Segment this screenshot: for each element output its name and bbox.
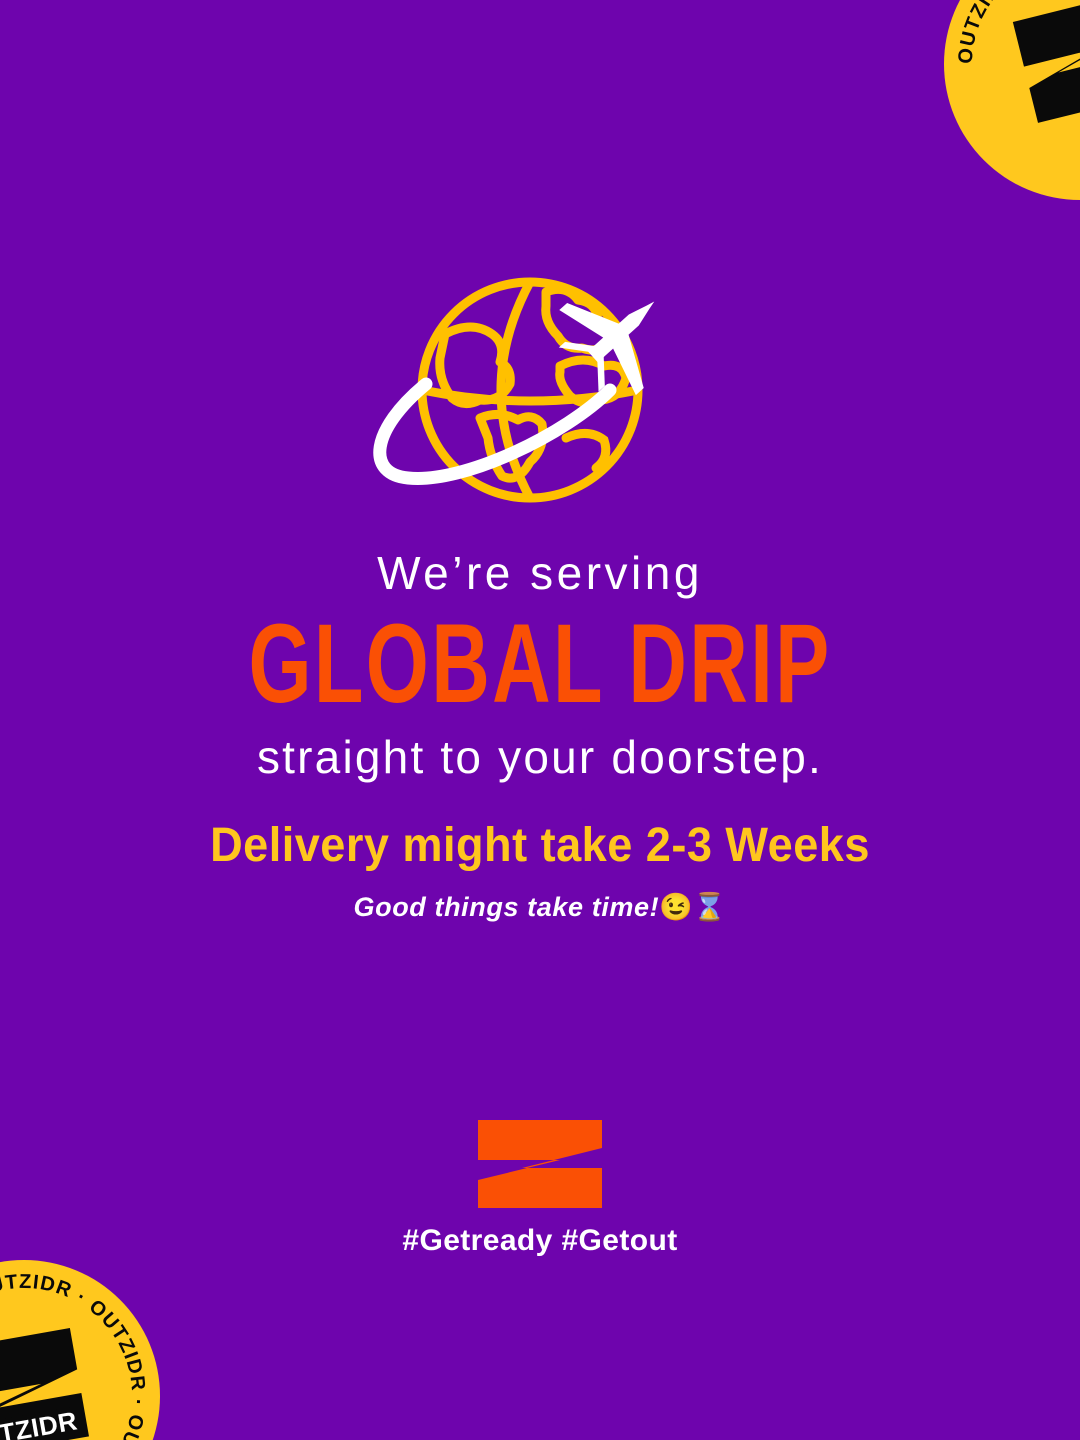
delivery-note-text: Good things take time! [354, 892, 660, 922]
eyebrow-text: We’re serving [0, 548, 1080, 600]
promo-poster: OUTZIDR · OUTZIDR · OUTZIDR · OUTZIDR · … [0, 0, 1080, 1440]
badge-top-right: OUTZIDR · OUTZIDR · OUTZIDR · OUTZIDR · [944, 0, 1080, 200]
delivery-block: Delivery might take 2-3 Weeks Good thing… [0, 818, 1080, 923]
footer-block: #Getready #Getout [0, 1120, 1080, 1258]
delivery-note: Good things take time!😉⌛ [0, 891, 1080, 923]
delivery-headline: Delivery might take 2-3 Weeks [32, 818, 1047, 873]
badge-core-top-right [1005, 0, 1080, 139]
headline-text: GLOBAL DRIP [119, 607, 961, 719]
badge-bottom-left: OUTZIDR · OUTZIDR · OUTZIDR · OUTZIDR · … [0, 1260, 160, 1440]
headline-block: We’re serving GLOBAL DRIP straight to yo… [0, 548, 1080, 783]
delivery-note-emoji: 😉⌛ [659, 892, 726, 922]
brand-logo-z-icon [476, 1120, 604, 1208]
hashtags-text: #Getready #Getout [0, 1224, 1080, 1258]
badge-core-bottom-left: OUTZIDR [0, 1321, 99, 1440]
subline-text: straight to your doorstep. [0, 732, 1080, 784]
hero-illustration [0, 262, 1080, 512]
